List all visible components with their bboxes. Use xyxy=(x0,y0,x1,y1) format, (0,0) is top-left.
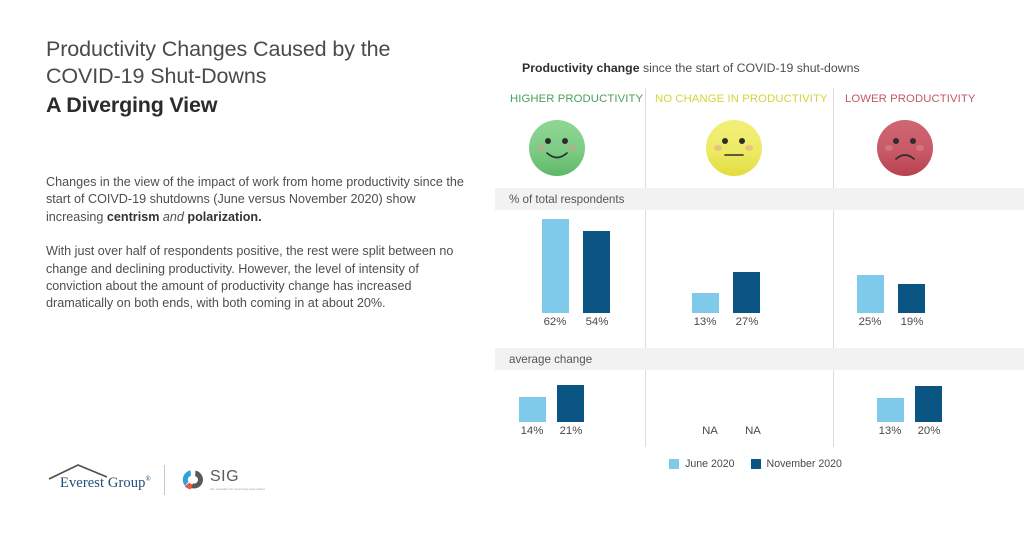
cheek-left xyxy=(537,145,545,151)
cheek-left xyxy=(885,145,893,151)
legend-swatch-november xyxy=(751,459,761,469)
everest-group-logo: Everest Group® xyxy=(46,463,154,497)
bar-label-average-nochange-june: NA xyxy=(687,425,733,437)
eye-right xyxy=(562,138,568,144)
sig-swirl-icon xyxy=(181,468,205,492)
section-label-average: average change xyxy=(509,353,592,366)
paragraph-1-italic-and: and xyxy=(159,210,187,224)
cheek-right xyxy=(916,145,924,151)
title-line-1: Productivity Changes Caused by the xyxy=(46,37,390,61)
slide-canvas: Productivity Changes Caused by the COVID… xyxy=(0,0,1024,536)
bar-label-respondents-lower-june: 25% xyxy=(847,316,893,328)
bar-label-respondents-higher-june: 62% xyxy=(532,316,578,328)
bar-average-lower-june xyxy=(877,398,904,422)
cheek-left xyxy=(714,145,722,151)
category-label-lower: LOWER PRODUCTIVITY xyxy=(845,93,975,105)
chart-panel: Productivity change since the start of C… xyxy=(487,0,1024,536)
legend-label-november: November 2020 xyxy=(767,458,842,470)
sig-tagline-text: the relevant for sourcing executives xyxy=(210,487,265,492)
bar-average-higher-june xyxy=(519,397,546,422)
mouth-smile xyxy=(545,149,569,160)
eye-right xyxy=(910,138,916,144)
title-block: Productivity Changes Caused by the COVID… xyxy=(46,36,466,120)
bar-respondents-higher-june xyxy=(542,219,569,313)
title-subtitle: A Diverging View xyxy=(46,91,466,120)
bar-respondents-higher-november xyxy=(583,231,610,313)
legend-item-june: June 2020 xyxy=(669,458,734,470)
body-copy: Changes in the view of the impact of wor… xyxy=(46,174,464,330)
eye-right xyxy=(739,138,745,144)
paragraph-1: Changes in the view of the impact of wor… xyxy=(46,174,464,226)
chart-legend: June 2020 November 2020 xyxy=(487,458,1024,470)
chart-title-bold: Productivity change xyxy=(522,61,640,75)
bar-label-respondents-higher-november: 54% xyxy=(574,316,620,328)
category-label-higher: HIGHER PRODUCTIVITY xyxy=(510,93,643,105)
eye-left xyxy=(722,138,728,144)
bar-label-respondents-lower-november: 19% xyxy=(889,316,935,328)
paragraph-1-bold-polarization: polarization. xyxy=(187,210,261,224)
paragraph-2: With just over half of respondents posit… xyxy=(46,243,464,313)
bar-label-average-higher-november: 21% xyxy=(548,425,594,437)
mouth-flat xyxy=(722,149,746,160)
legend-item-november: November 2020 xyxy=(751,458,842,470)
bar-label-average-lower-november: 20% xyxy=(906,425,952,437)
sig-name-text: SIG xyxy=(210,469,265,485)
section-label-respondents: % of total respondents xyxy=(509,193,624,206)
panel-divider-right xyxy=(833,88,834,447)
everest-group-wordmark: Everest Group® xyxy=(60,475,151,492)
happy-face-icon xyxy=(529,120,585,176)
bar-average-higher-november xyxy=(557,385,584,422)
page-title: Productivity Changes Caused by the COVID… xyxy=(46,36,466,120)
footer-logos: Everest Group® SIG the relevant for sour… xyxy=(46,459,265,501)
title-line-2: COVID-19 Shut-Downs xyxy=(46,64,266,88)
legend-swatch-june xyxy=(669,459,679,469)
chart-title-rest: since the start of COVID-19 shut-downs xyxy=(640,61,860,75)
everest-name-text: Everest Group xyxy=(60,475,145,491)
cheek-right xyxy=(568,145,576,151)
legend-label-june: June 2020 xyxy=(685,458,734,470)
bar-respondents-lower-june xyxy=(857,275,884,313)
logo-divider xyxy=(164,465,165,495)
mouth-frown xyxy=(893,149,917,160)
neutral-face-icon xyxy=(706,120,762,176)
category-label-no-change: NO CHANGE IN PRODUCTIVITY xyxy=(655,93,828,105)
sig-logo: SIG the relevant for sourcing executives xyxy=(181,468,265,492)
sig-wordmark: SIG the relevant for sourcing executives xyxy=(210,469,265,492)
bar-respondents-nochange-november xyxy=(733,272,760,313)
paragraph-1-bold-centrism: centrism xyxy=(107,210,160,224)
eye-left xyxy=(893,138,899,144)
bar-label-respondents-nochange-june: 13% xyxy=(682,316,728,328)
registered-trademark-icon: ® xyxy=(145,475,150,483)
bar-label-average-nochange-november: NA xyxy=(730,425,776,437)
cheek-right xyxy=(745,145,753,151)
bar-respondents-lower-november xyxy=(898,284,925,313)
panel-divider-left xyxy=(645,88,646,447)
eye-left xyxy=(545,138,551,144)
bar-average-lower-november xyxy=(915,386,942,422)
bar-respondents-nochange-june xyxy=(692,293,719,313)
sad-face-icon xyxy=(877,120,933,176)
chart-title: Productivity change since the start of C… xyxy=(522,61,860,75)
bar-label-respondents-nochange-november: 27% xyxy=(724,316,770,328)
